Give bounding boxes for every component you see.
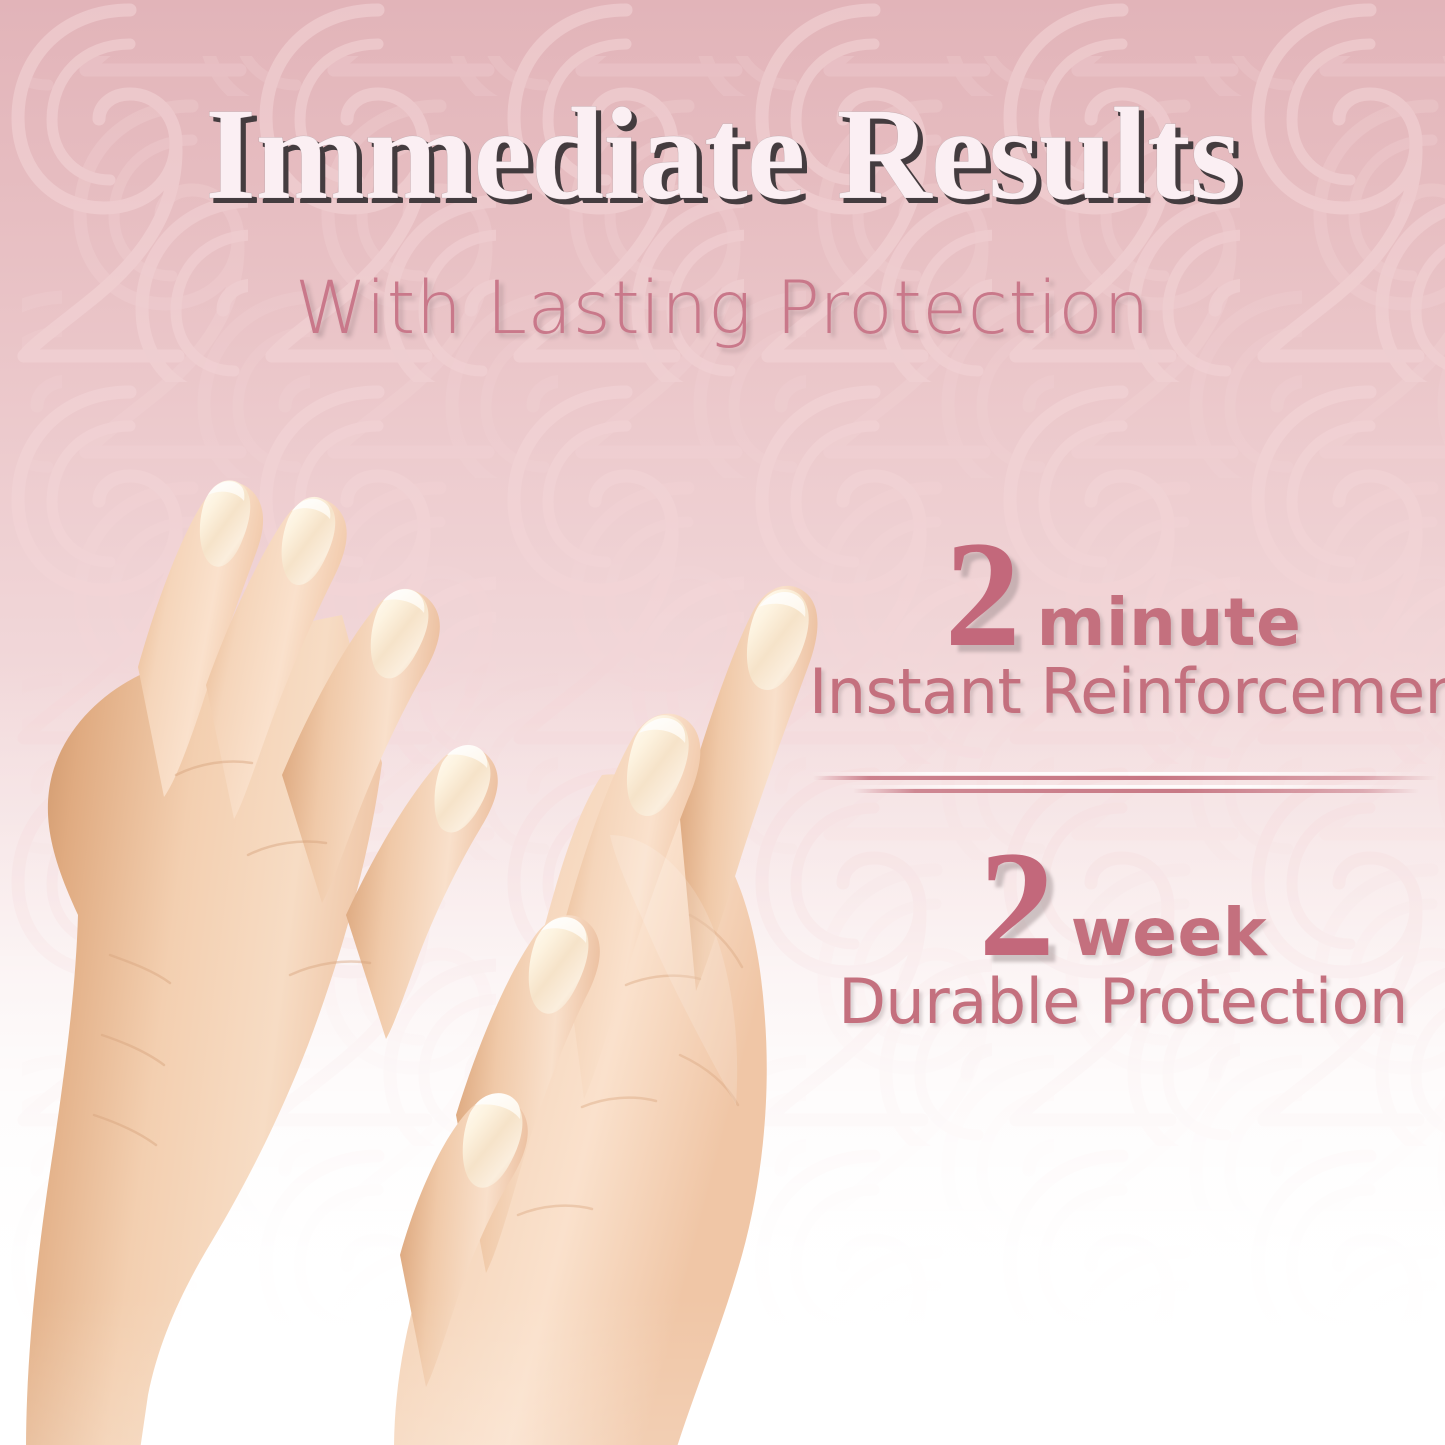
claims-list: 2 minute Instant Reinforcement 2 week Du… bbox=[809, 520, 1437, 1036]
divider-highlight-bottom bbox=[843, 785, 1407, 788]
product-claim-poster: Immediate Results With Lasting Protectio… bbox=[0, 0, 1445, 1445]
divider-line-bottom bbox=[853, 789, 1419, 793]
claim-headline-row: 2 week bbox=[809, 830, 1437, 979]
page-subtitle: With Lasting Protection bbox=[0, 272, 1445, 345]
claim-description: Durable Protection bbox=[809, 969, 1437, 1036]
claim-description: Instant Reinforcement bbox=[809, 659, 1437, 726]
claim-item-durable-protection: 2 week Durable Protection bbox=[809, 830, 1437, 1036]
claim-headline-row: 2 minute bbox=[809, 520, 1437, 669]
section-divider bbox=[809, 752, 1437, 814]
claim-item-instant-reinforcement: 2 minute Instant Reinforcement bbox=[809, 520, 1437, 726]
divider-line-top bbox=[813, 776, 1437, 780]
claim-number: 2 bbox=[945, 520, 1021, 669]
page-title: Immediate Results bbox=[0, 88, 1445, 220]
hands-image bbox=[0, 215, 910, 1445]
divider-highlight-top bbox=[809, 772, 1427, 775]
claim-unit: minute bbox=[1037, 590, 1302, 656]
claim-number: 2 bbox=[979, 830, 1055, 979]
claim-unit: week bbox=[1071, 900, 1267, 966]
